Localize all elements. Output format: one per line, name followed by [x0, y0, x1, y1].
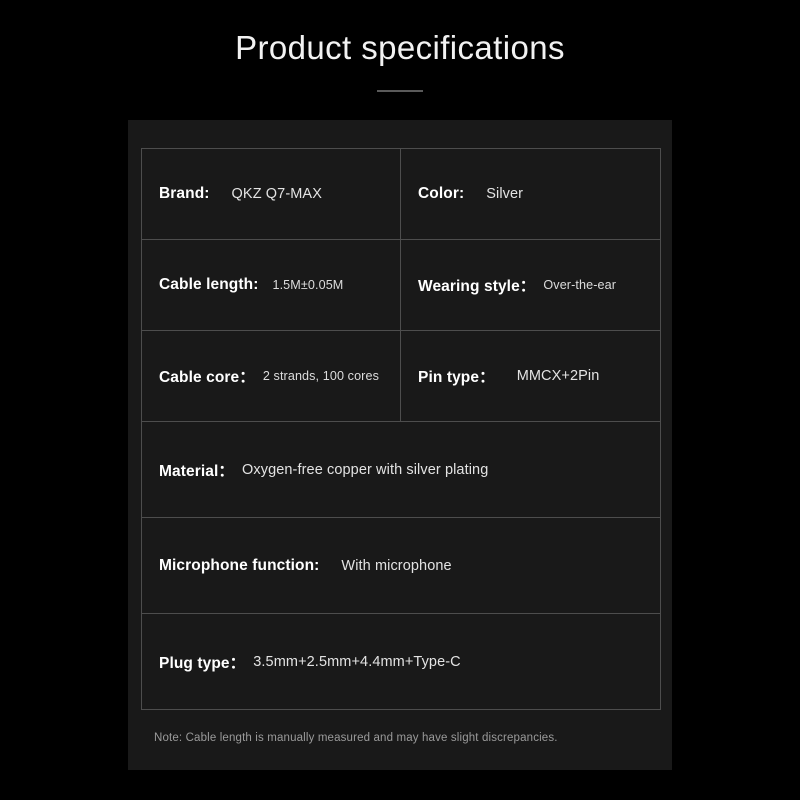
spec-label-microphone-function: Microphone function:: [159, 557, 319, 575]
spec-label-cable-core: Cable core：: [159, 365, 255, 387]
table-row: Brand: QKZ Q7-MAX Color: Silver: [142, 149, 660, 240]
title-divider: [377, 90, 423, 92]
spec-cell-pin-type: Pin type： MMCX+2Pin: [401, 331, 660, 421]
spec-label-pin-type: Pin type：: [418, 365, 495, 387]
table-row: Cable length: 1.5M±0.05M Wearing style： …: [142, 240, 660, 331]
spec-value-brand: QKZ Q7-MAX: [232, 186, 322, 202]
spec-value-cable-core: 2 strands, 100 cores: [263, 369, 379, 383]
spec-cell-color: Color: Silver: [401, 149, 660, 239]
header: Product specifications: [0, 28, 800, 92]
spec-label-plug-type: Plug type：: [159, 651, 245, 673]
spec-cell-brand: Brand: QKZ Q7-MAX: [142, 149, 401, 239]
spec-value-pin-type: MMCX+2Pin: [517, 368, 600, 384]
table-row: Material： Oxygen-free copper with silver…: [142, 422, 660, 518]
spec-label-wearing-style: Wearing style：: [418, 274, 535, 296]
table-row: Cable core： 2 strands, 100 cores Pin typ…: [142, 331, 660, 422]
spec-value-cable-length: 1.5M±0.05M: [272, 278, 343, 292]
spec-label-brand: Brand:: [159, 185, 210, 203]
spec-label-cable-length: Cable length:: [159, 276, 258, 294]
spec-value-plug-type: 3.5mm+2.5mm+4.4mm+Type-C: [253, 654, 460, 670]
spec-cell-microphone-function: Microphone function: With microphone: [142, 518, 660, 613]
spec-cell-wearing-style: Wearing style： Over-the-ear: [401, 240, 660, 330]
spec-cell-cable-core: Cable core： 2 strands, 100 cores: [142, 331, 401, 421]
spec-panel: Brand: QKZ Q7-MAX Color: Silver Cable le…: [128, 120, 672, 770]
page-title: Product specifications: [0, 28, 800, 68]
spec-value-material: Oxygen-free copper with silver plating: [242, 462, 488, 478]
footnote: Note: Cable length is manually measured …: [154, 732, 558, 744]
spec-cell-plug-type: Plug type： 3.5mm+2.5mm+4.4mm+Type-C: [142, 614, 660, 709]
spec-value-wearing-style: Over-the-ear: [543, 278, 616, 292]
spec-cell-material: Material： Oxygen-free copper with silver…: [142, 422, 660, 517]
product-specifications-page: Product specifications Brand: QKZ Q7-MAX…: [0, 0, 800, 800]
spec-label-color: Color:: [418, 185, 464, 203]
spec-table: Brand: QKZ Q7-MAX Color: Silver Cable le…: [141, 148, 661, 710]
table-row: Plug type： 3.5mm+2.5mm+4.4mm+Type-C: [142, 614, 660, 709]
spec-label-material: Material：: [159, 459, 234, 481]
table-row: Microphone function: With microphone: [142, 518, 660, 614]
spec-value-microphone-function: With microphone: [341, 558, 451, 574]
spec-value-color: Silver: [486, 186, 523, 202]
spec-cell-cable-length: Cable length: 1.5M±0.05M: [142, 240, 401, 330]
